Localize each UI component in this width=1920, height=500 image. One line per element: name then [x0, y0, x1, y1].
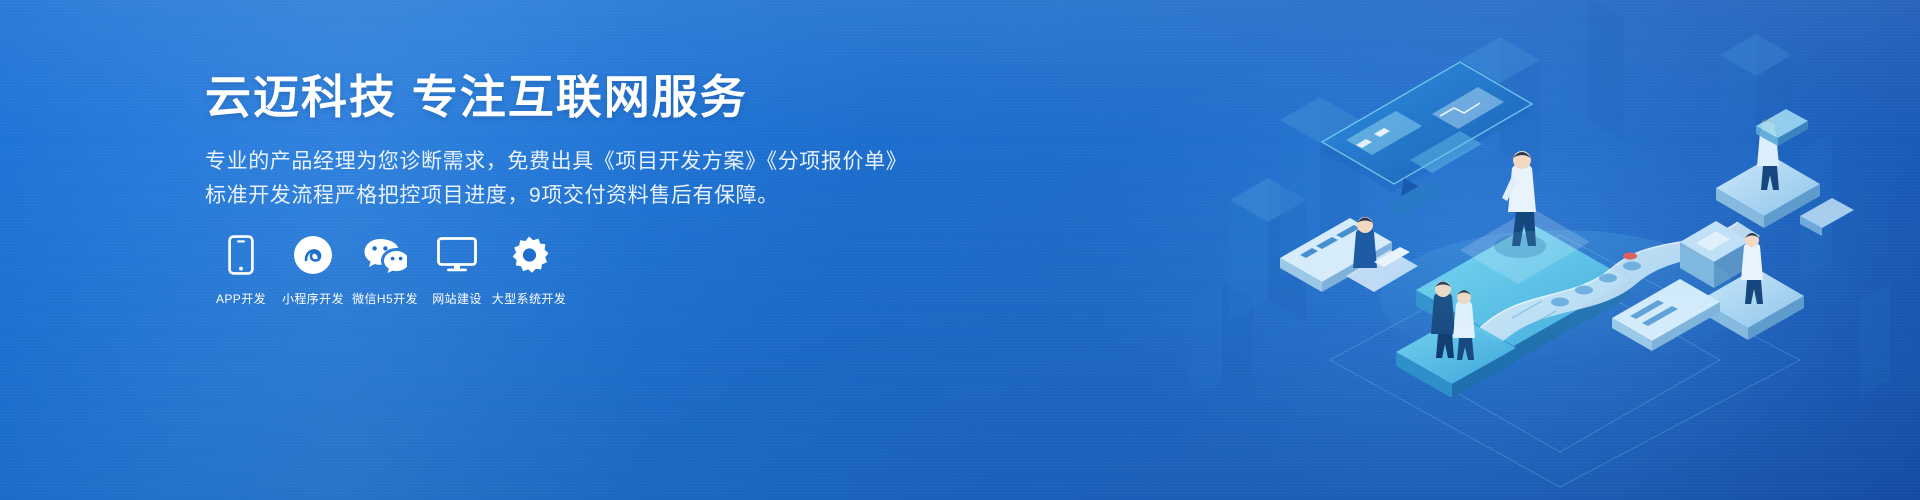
promo-banner: 云迈科技 专注互联网服务 专业的产品经理为您诊断需求，免费出具《项目开发方案》《… [0, 0, 1920, 500]
mini-program-icon [293, 232, 333, 278]
banner-subtitle-line-1: 专业的产品经理为您诊断需求，免费出具《项目开发方案》《分项报价单》 [205, 145, 907, 179]
banner-copy: 云迈科技 专注互联网服务 专业的产品经理为您诊断需求，免费出具《项目开发方案》《… [205, 72, 907, 213]
service-label: 小程序开发 [282, 290, 344, 307]
service-label: 网站建设 [432, 290, 482, 307]
banner-subtitle: 专业的产品经理为您诊断需求，免费出具《项目开发方案》《分项报价单》 标准开发流程… [205, 145, 907, 213]
isometric-illustration [1160, 0, 1920, 500]
service-item-mini-program[interactable]: 小程序开发 [277, 232, 349, 307]
service-item-wechat-h5[interactable]: 微信H5开发 [349, 232, 421, 307]
banner-subtitle-line-2: 标准开发流程严格把控项目进度，9项交付资料售后有保障。 [205, 179, 907, 213]
service-item-website[interactable]: 网站建设 [421, 232, 493, 307]
service-item-app[interactable]: APP开发 [205, 232, 277, 307]
mobile-phone-icon [228, 232, 254, 278]
monitor-icon [437, 232, 477, 278]
service-label: APP开发 [216, 290, 266, 307]
service-item-large-system[interactable]: 大型系统开发 [493, 232, 565, 307]
service-label: 微信H5开发 [352, 290, 418, 307]
banner-headline: 云迈科技 专注互联网服务 [205, 72, 907, 123]
wechat-icon [363, 232, 407, 278]
service-list: APP开发 小程序开发 微信 [205, 232, 565, 307]
service-label: 大型系统开发 [492, 290, 566, 307]
gear-icon [509, 232, 549, 278]
